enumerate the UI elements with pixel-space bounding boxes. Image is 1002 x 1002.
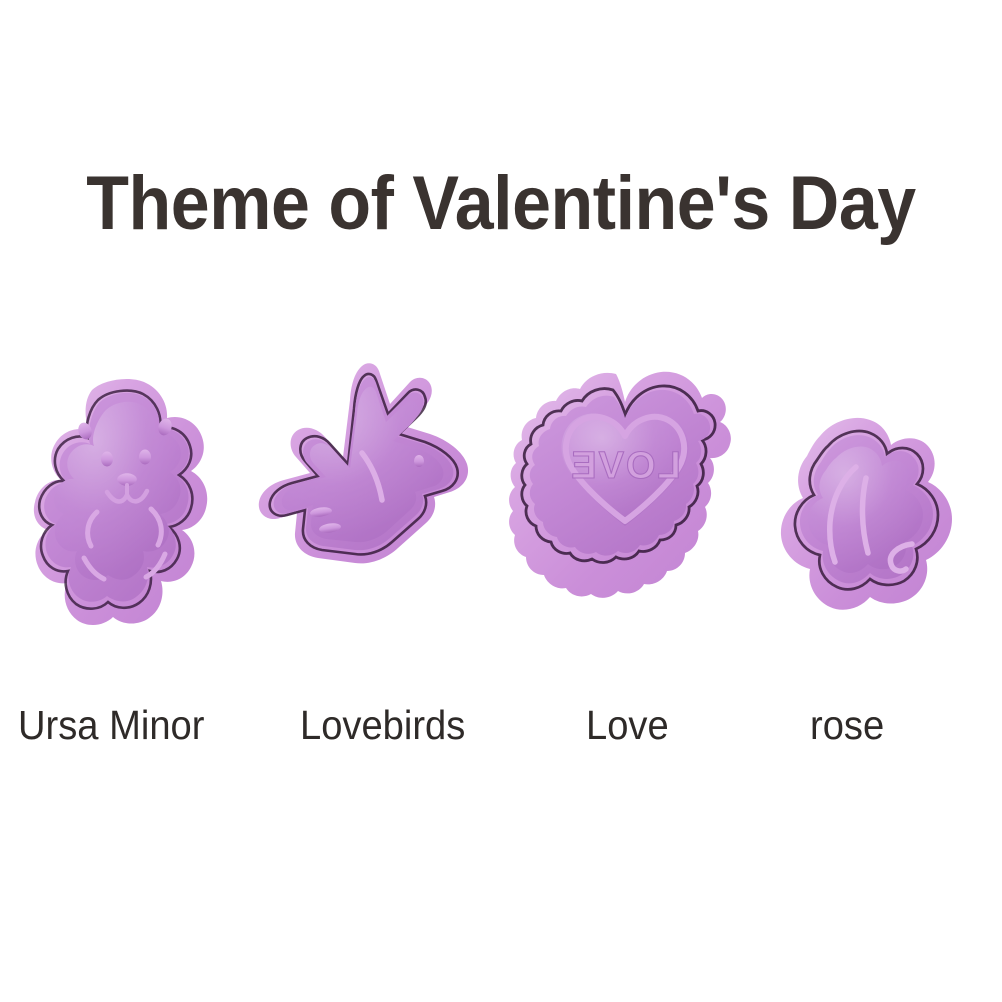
product-image-canvas: Theme of Valentine's Day — [0, 0, 1002, 1002]
heart-mold-graphic: LOVE — [512, 368, 738, 604]
heart-love-stamp-text: LOVE — [569, 445, 680, 487]
caption-row: Ursa Minor Lovebirds Love rose — [0, 700, 1002, 760]
bird-eye — [414, 455, 424, 467]
product-mold-ursa-minor[interactable] — [34, 378, 240, 644]
product-mold-rose[interactable] — [760, 412, 966, 628]
product-row: LOVE — [0, 350, 1002, 650]
bear-eye-right — [139, 450, 151, 465]
product-label-love: Love — [586, 700, 669, 750]
dove-mold-graphic — [258, 360, 494, 586]
product-mold-lovebirds[interactable] — [258, 360, 494, 586]
product-label-lovebirds: Lovebirds — [300, 700, 465, 750]
product-mold-love[interactable]: LOVE — [512, 368, 738, 604]
product-label-rose: rose — [810, 700, 884, 750]
product-label-ursa-minor: Ursa Minor — [18, 700, 204, 750]
bear-eye-left — [101, 452, 113, 467]
teddy-bear-mold-graphic — [34, 378, 240, 644]
rose-mold-graphic — [760, 412, 966, 628]
page-title: Theme of Valentine's Day — [40, 158, 962, 250]
